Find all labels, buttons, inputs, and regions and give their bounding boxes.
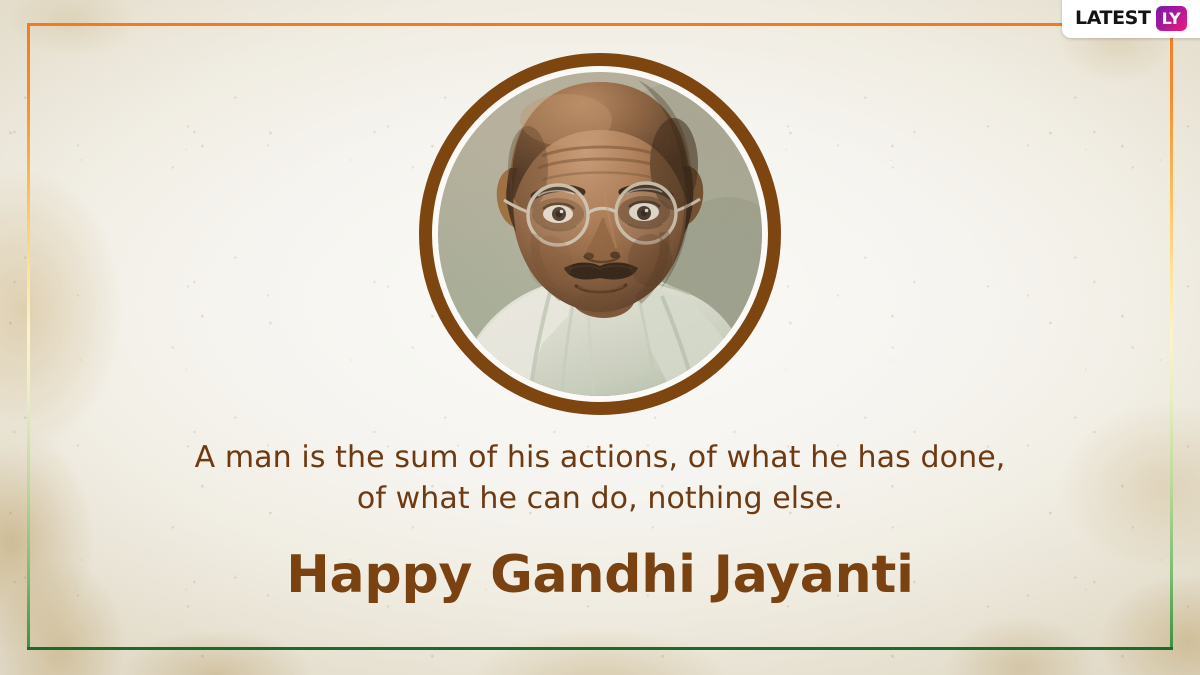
latestly-logo[interactable]: LATEST LY: [1062, 0, 1200, 38]
quote-line-2: of what he can do, nothing else.: [0, 478, 1200, 519]
quote-text: A man is the sum of his actions, of what…: [0, 437, 1200, 519]
latestly-ly-badge: LY: [1156, 6, 1187, 31]
latestly-ly-badge-label: LY: [1162, 11, 1181, 27]
gandhi-portrait: [419, 53, 781, 415]
latestly-wordmark: LATEST: [1075, 9, 1151, 28]
portrait-brown-ring: [419, 53, 781, 415]
quote-line-1: A man is the sum of his actions, of what…: [0, 437, 1200, 478]
gandhi-jayanti-poster: A man is the sum of his actions, of what…: [0, 0, 1200, 675]
greeting-heading: Happy Gandhi Jayanti: [0, 545, 1200, 605]
